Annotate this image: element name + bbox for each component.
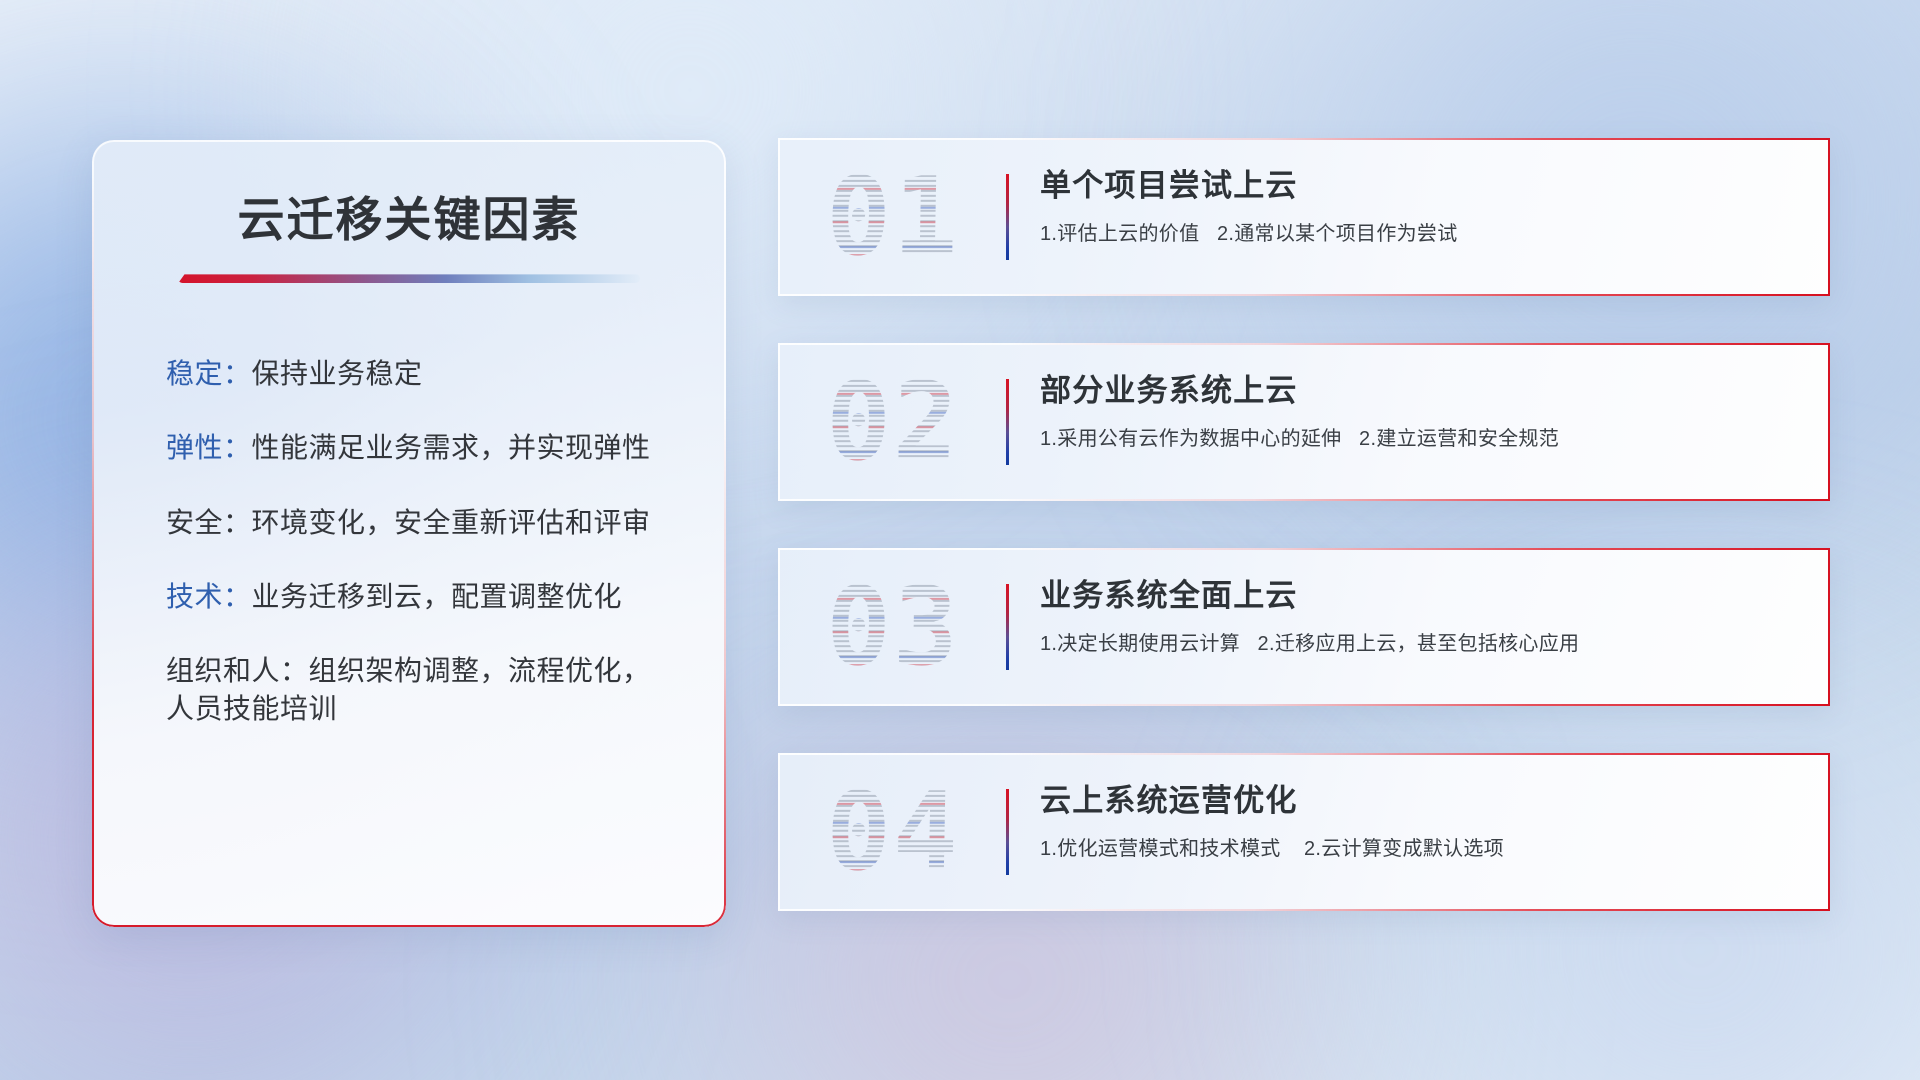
stage-subtitle: 1.优化运营模式和技术模式 2.云计算变成默认选项 bbox=[1040, 836, 1804, 862]
factor-key: 组织和人： bbox=[166, 655, 309, 686]
stage-title: 业务系统全面上云 bbox=[1040, 577, 1804, 616]
factor-list: 稳定：保持业务稳定 弹性：性能满足业务需求，并实现弹性 安全：环境变化，安全重新… bbox=[132, 355, 686, 727]
stage-number-glyph: 04 bbox=[825, 770, 961, 895]
factor-item-stability: 稳定：保持业务稳定 bbox=[166, 355, 686, 393]
stage-number-glyph: 03 bbox=[825, 565, 961, 690]
page-title: 云迁移关键因素 bbox=[132, 186, 686, 248]
stage-number-glyph: 01 bbox=[825, 155, 961, 280]
stage-number-glyph: 02 bbox=[825, 360, 961, 485]
stage-subtitle: 1.决定长期使用云计算 2.迁移应用上云，甚至包括核心应用 bbox=[1040, 631, 1804, 657]
stage-card-02[interactable]: 02 部分业务系统上云 1.采用公有云作为数据中心的延伸 2.建立运营和安全规范 bbox=[778, 343, 1830, 501]
stage-title: 部分业务系统上云 bbox=[1040, 372, 1804, 411]
stage-number-wrap: 04 bbox=[804, 753, 982, 911]
factor-key: 稳定： bbox=[166, 358, 252, 389]
stage-card-list: 01 单个项目尝试上云 1.评估上云的价值 2.通常以某个项目作为尝试 02 部… bbox=[778, 138, 1830, 958]
factor-text: 性能满足业务需求，并实现弹性 bbox=[252, 432, 651, 463]
stage-card-body: 部分业务系统上云 1.采用公有云作为数据中心的延伸 2.建立运营和安全规范 bbox=[1040, 372, 1804, 452]
stage-number-wrap: 03 bbox=[804, 548, 982, 706]
factor-key: 安全： bbox=[166, 507, 252, 538]
stage-number-wrap: 02 bbox=[804, 343, 982, 501]
slide-canvas: 云迁移关键因素 稳定：保持业务稳定 弹性：性能满足业务需求，并实现弹性 安全：环… bbox=[0, 0, 1920, 1080]
stage-title: 云上系统运营优化 bbox=[1040, 782, 1804, 821]
title-underline-rule bbox=[178, 274, 640, 283]
factor-item-organization: 组织和人：组织架构调整，流程优化， 人员技能培训 bbox=[166, 652, 686, 728]
stage-accent-divider bbox=[1006, 379, 1009, 465]
factor-item-security: 安全：环境变化，安全重新评估和评审 bbox=[166, 504, 686, 542]
stage-subtitle: 1.采用公有云作为数据中心的延伸 2.建立运营和安全规范 bbox=[1040, 426, 1804, 452]
stage-number-wrap: 01 bbox=[804, 138, 982, 296]
factor-key: 弹性： bbox=[166, 432, 252, 463]
stage-card-body: 业务系统全面上云 1.决定长期使用云计算 2.迁移应用上云，甚至包括核心应用 bbox=[1040, 577, 1804, 657]
stage-card-body: 单个项目尝试上云 1.评估上云的价值 2.通常以某个项目作为尝试 bbox=[1040, 167, 1804, 247]
factor-item-technology: 技术：业务迁移到云，配置调整优化 bbox=[166, 578, 686, 616]
factor-item-elasticity: 弹性：性能满足业务需求，并实现弹性 bbox=[166, 429, 686, 467]
stage-title: 单个项目尝试上云 bbox=[1040, 167, 1804, 206]
stage-accent-divider bbox=[1006, 174, 1009, 260]
stage-card-01[interactable]: 01 单个项目尝试上云 1.评估上云的价值 2.通常以某个项目作为尝试 bbox=[778, 138, 1830, 296]
stage-card-04[interactable]: 04 云上系统运营优化 1.优化运营模式和技术模式 2.云计算变成默认选项 bbox=[778, 753, 1830, 911]
factor-key: 技术： bbox=[166, 581, 252, 612]
key-factors-panel: 云迁移关键因素 稳定：保持业务稳定 弹性：性能满足业务需求，并实现弹性 安全：环… bbox=[92, 140, 726, 927]
stage-card-03[interactable]: 03 业务系统全面上云 1.决定长期使用云计算 2.迁移应用上云，甚至包括核心应… bbox=[778, 548, 1830, 706]
stage-accent-divider bbox=[1006, 789, 1009, 875]
factor-text: 业务迁移到云，配置调整优化 bbox=[252, 581, 623, 612]
factor-text: 环境变化，安全重新评估和评审 bbox=[252, 507, 651, 538]
stage-subtitle: 1.评估上云的价值 2.通常以某个项目作为尝试 bbox=[1040, 221, 1804, 247]
factor-text: 保持业务稳定 bbox=[252, 358, 423, 389]
stage-card-body: 云上系统运营优化 1.优化运营模式和技术模式 2.云计算变成默认选项 bbox=[1040, 782, 1804, 862]
key-factors-panel-inner: 云迁移关键因素 稳定：保持业务稳定 弹性：性能满足业务需求，并实现弹性 安全：环… bbox=[92, 140, 726, 728]
stage-accent-divider bbox=[1006, 584, 1009, 670]
